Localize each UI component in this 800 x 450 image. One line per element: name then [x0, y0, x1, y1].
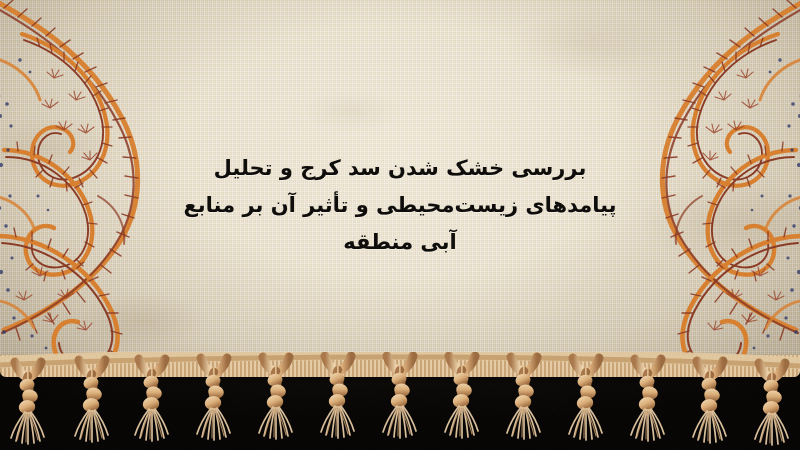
title-line-1: بررسی خشک شدن سد کرج و تحلیل	[0, 150, 800, 187]
tassel-fringe	[0, 352, 800, 450]
title-line-3: آبی منطقه	[0, 224, 800, 261]
title-line-2: پیامدهای زیست‌محیطی و تأثیر آن بر منابع	[0, 187, 800, 224]
title-block: بررسی خشک شدن سد کرج و تحلیل پیامدهای زی…	[0, 150, 800, 261]
title-card-canvas: بررسی خشک شدن سد کرج و تحلیل پیامدهای زی…	[0, 0, 800, 450]
